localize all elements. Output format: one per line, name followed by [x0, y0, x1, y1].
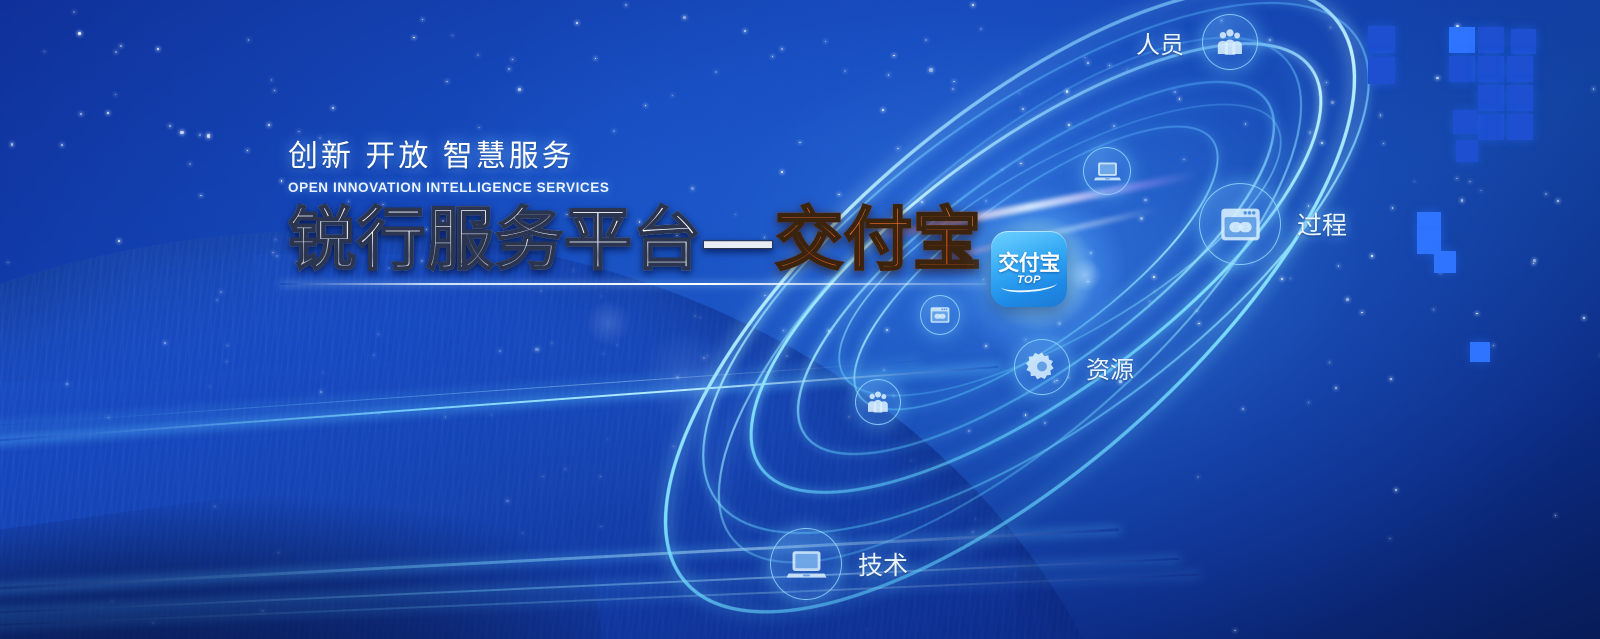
title-accent: 交付宝	[775, 204, 982, 276]
jiaofubao-app-icon[interactable]: 交付宝 TOP	[991, 231, 1067, 307]
pixel-square	[1478, 114, 1504, 140]
orbit-node-personnel[interactable]: 人员	[1136, 14, 1258, 70]
window-link-icon-circle	[920, 295, 960, 335]
people-icon-circle	[855, 379, 901, 425]
page-title: 锐行服务平台 — 交付宝	[288, 204, 982, 276]
laptop-icon	[785, 543, 828, 586]
people-icon-circle	[1202, 14, 1258, 70]
title-primary: 锐行服务平台	[288, 204, 702, 276]
promo-banner: 创新 开放 智慧服务 OPEN INNOVATION INTELLIGENCE …	[0, 0, 1600, 639]
pixel-square	[1449, 56, 1475, 82]
pixel-square	[1470, 342, 1490, 362]
tagline-cn: 创新 开放 智慧服务	[288, 131, 982, 175]
app-icon-main-text: 交付宝	[998, 253, 1060, 274]
title-dash: —	[702, 204, 775, 276]
app-icon-swoosh	[1001, 276, 1058, 294]
laptop-icon	[1093, 157, 1122, 186]
pixel-square	[1507, 114, 1533, 140]
window-link-icon-circle	[1199, 183, 1281, 265]
pixel-square	[1434, 251, 1456, 273]
pixel-square	[1507, 56, 1533, 82]
laptop-icon-circle	[770, 528, 842, 600]
window-link-icon	[928, 303, 952, 327]
lens-flare-ghost-1	[1068, 258, 1102, 292]
tagline-en: OPEN INNOVATION INTELLIGENCE SERVICES	[288, 180, 982, 195]
people-icon	[864, 388, 892, 416]
pixel-square	[1368, 26, 1395, 53]
laptop-icon-circle	[1083, 147, 1131, 195]
pixel-square	[1368, 57, 1395, 84]
pixel-square	[1507, 85, 1533, 111]
people-icon	[1213, 25, 1247, 59]
pixel-square	[1511, 29, 1536, 54]
gear-icon	[1025, 350, 1059, 384]
orbit-node-label-resource: 资源	[1086, 350, 1134, 385]
pixel-square	[1478, 85, 1504, 111]
headline-block: 创新 开放 智慧服务 OPEN INNOVATION INTELLIGENCE …	[288, 131, 982, 276]
pixel-square	[1453, 110, 1477, 134]
orbit-node-label-personnel: 人员	[1136, 25, 1184, 60]
pixel-square	[1478, 27, 1504, 53]
orbit-node-label-technology: 技术	[858, 546, 908, 582]
orbit-node-laptop-small[interactable]	[1083, 147, 1131, 195]
orbit-node-people-small[interactable]	[855, 379, 901, 425]
orbit-node-label-process: 过程	[1297, 206, 1347, 242]
orbit-node-process[interactable]: 过程	[1199, 183, 1347, 265]
pixel-square	[1449, 27, 1475, 53]
title-underline	[280, 283, 986, 285]
pixel-square	[1478, 56, 1504, 82]
window-link-icon	[1216, 200, 1265, 249]
orbit-node-technology[interactable]: 技术	[770, 528, 908, 600]
pixel-square	[1456, 140, 1478, 162]
orbit-node-window-small[interactable]	[920, 295, 960, 335]
gear-icon-circle	[1014, 339, 1070, 395]
orbit-node-resource[interactable]: 资源	[1014, 339, 1134, 395]
